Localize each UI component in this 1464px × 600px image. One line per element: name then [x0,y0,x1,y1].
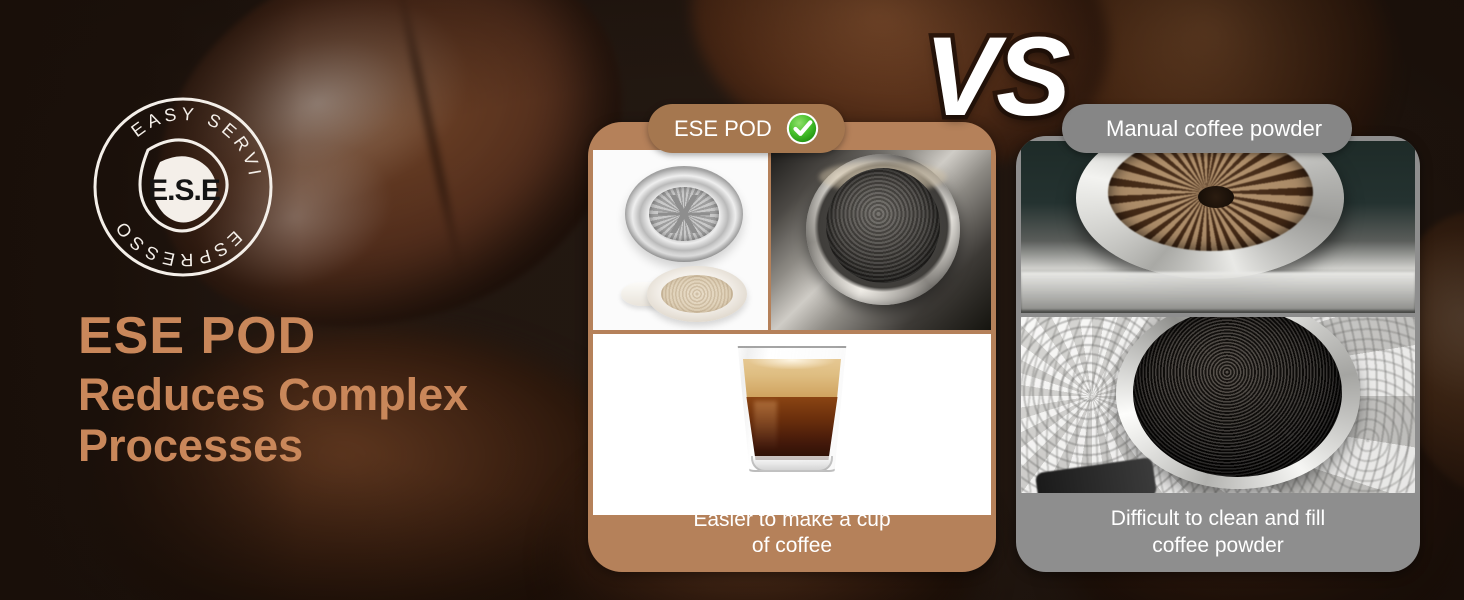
manual-powder-caption-line-1: Difficult to clean and fill [1111,506,1325,532]
manual-powder-caption-line-2: coffee powder [1111,533,1325,559]
glass-body [733,346,851,472]
ese-pod-photo-row-top [593,150,991,334]
manual-powder-photo-grid [1021,141,1415,493]
portafilter-with-ese-pod-photo [771,150,991,330]
ese-pod-caption-line-1: Easier to make a cup [693,507,890,533]
manual-powder-badge-label: Manual coffee powder [1106,116,1322,142]
pod-disc [647,266,747,322]
ese-pod-comparison-card: Easier to make a cup of coffee [588,122,996,572]
espresso-crema [743,359,841,398]
ese-pod-caption: Easier to make a cup of coffee [588,494,996,572]
espresso-glass-icon [733,346,851,472]
ese-pod-badge: ESE POD [648,104,845,153]
portafilter-full-of-grounds-photo [1021,317,1415,493]
versus-label: VS [906,14,1086,154]
manual-powder-comparison-card: Difficult to clean and fill coffee powde… [1016,136,1420,572]
ese-pod-photo-grid [593,150,991,515]
coffee-puck [826,168,940,283]
ese-pod-badge-label: ESE POD [674,116,772,142]
manual-powder-caption: Difficult to clean and fill coffee powde… [1016,493,1420,572]
portafilter-clean-puck [771,150,991,330]
ese-pod-and-filter-basket-photo [593,150,771,330]
espresso-glass-photo [593,334,991,515]
green-check-icon [786,112,819,145]
filter-basket-icon [625,166,743,262]
group-head-screw [1198,186,1233,208]
comparison-section: Easier to make a cup of coffee [0,0,1464,600]
manual-powder-badge: Manual coffee powder [1062,104,1352,153]
paper-coffee-pod-icon [621,266,747,322]
ese-pod-caption-line-2: of coffee [693,533,890,559]
drip-tray [1021,272,1415,310]
dirty-group-head-photo [1021,141,1415,317]
glass-base [751,456,834,472]
espresso-liquid [746,397,837,460]
group-head-illustration [1021,141,1415,313]
loose-grounds-illustration [1021,317,1415,493]
